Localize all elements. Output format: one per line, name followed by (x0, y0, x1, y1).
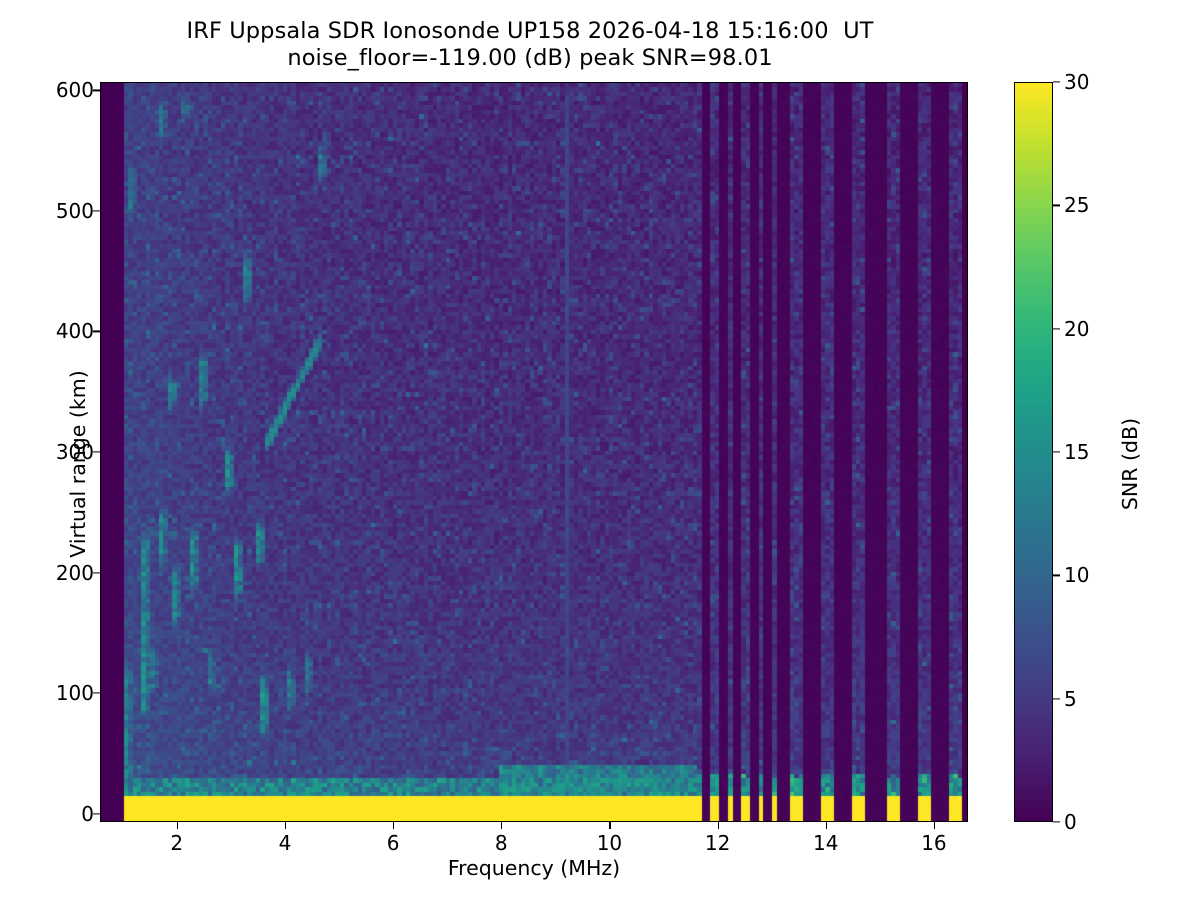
ionogram-heatmap[interactable] (101, 83, 968, 822)
x-tick-mark (393, 822, 394, 829)
y-tick-mark (93, 331, 100, 332)
colorbar[interactable] (1014, 82, 1053, 822)
y-tick-mark (93, 451, 100, 452)
colorbar-label: SNR (dB) (1118, 334, 1142, 594)
colorbar-tick-mark (1053, 821, 1060, 822)
x-tick-mark (609, 822, 610, 829)
y-tick-label: 0 (0, 802, 94, 826)
colorbar-gradient (1015, 83, 1053, 822)
y-tick-mark (93, 572, 100, 573)
y-tick-mark (93, 692, 100, 693)
x-tick-label: 2 (137, 831, 217, 855)
x-tick-label: 16 (894, 831, 974, 855)
title-line-2: noise_floor=-119.00 (dB) peak SNR=98.01 (0, 45, 1060, 72)
colorbar-tick-label: 20 (1064, 317, 1124, 341)
colorbar-tick-mark (1053, 698, 1060, 699)
colorbar-tick-mark (1053, 81, 1060, 82)
x-tick-mark (177, 822, 178, 829)
y-tick-mark (93, 210, 100, 211)
y-tick-label: 500 (0, 199, 94, 223)
x-tick-label: 10 (569, 831, 649, 855)
y-axis-label: Virtual range (km) (66, 334, 90, 594)
x-tick-label: 12 (678, 831, 758, 855)
colorbar-tick-mark (1053, 328, 1060, 329)
x-tick-mark (934, 822, 935, 829)
figure-title: IRF Uppsala SDR Ionosonde UP158 2026-04-… (0, 18, 1060, 73)
x-tick-label: 4 (245, 831, 325, 855)
colorbar-tick-mark (1053, 205, 1060, 206)
y-tick-mark (93, 813, 100, 814)
colorbar-tick-label: 25 (1064, 193, 1124, 217)
colorbar-tick-label: 30 (1064, 70, 1124, 94)
x-tick-label: 6 (353, 831, 433, 855)
colorbar-tick-mark (1053, 451, 1060, 452)
x-tick-mark (826, 822, 827, 829)
x-axis-label: Frequency (MHz) (100, 856, 968, 880)
x-tick-mark (285, 822, 286, 829)
y-tick-mark (93, 90, 100, 91)
colorbar-tick-label: 0 (1064, 810, 1124, 834)
x-tick-mark (718, 822, 719, 829)
colorbar-tick-mark (1053, 575, 1060, 576)
colorbar-tick-label: 5 (1064, 687, 1124, 711)
x-tick-label: 8 (461, 831, 541, 855)
y-tick-label: 600 (0, 78, 94, 102)
x-tick-mark (501, 822, 502, 829)
ionogram-plot-area[interactable] (100, 82, 968, 822)
y-tick-label: 100 (0, 681, 94, 705)
ionogram-figure: IRF Uppsala SDR Ionosonde UP158 2026-04-… (0, 0, 1200, 900)
title-line-1: IRF Uppsala SDR Ionosonde UP158 2026-04-… (0, 18, 1060, 45)
colorbar-tick-label: 10 (1064, 563, 1124, 587)
colorbar-tick-label: 15 (1064, 440, 1124, 464)
x-tick-label: 14 (786, 831, 866, 855)
